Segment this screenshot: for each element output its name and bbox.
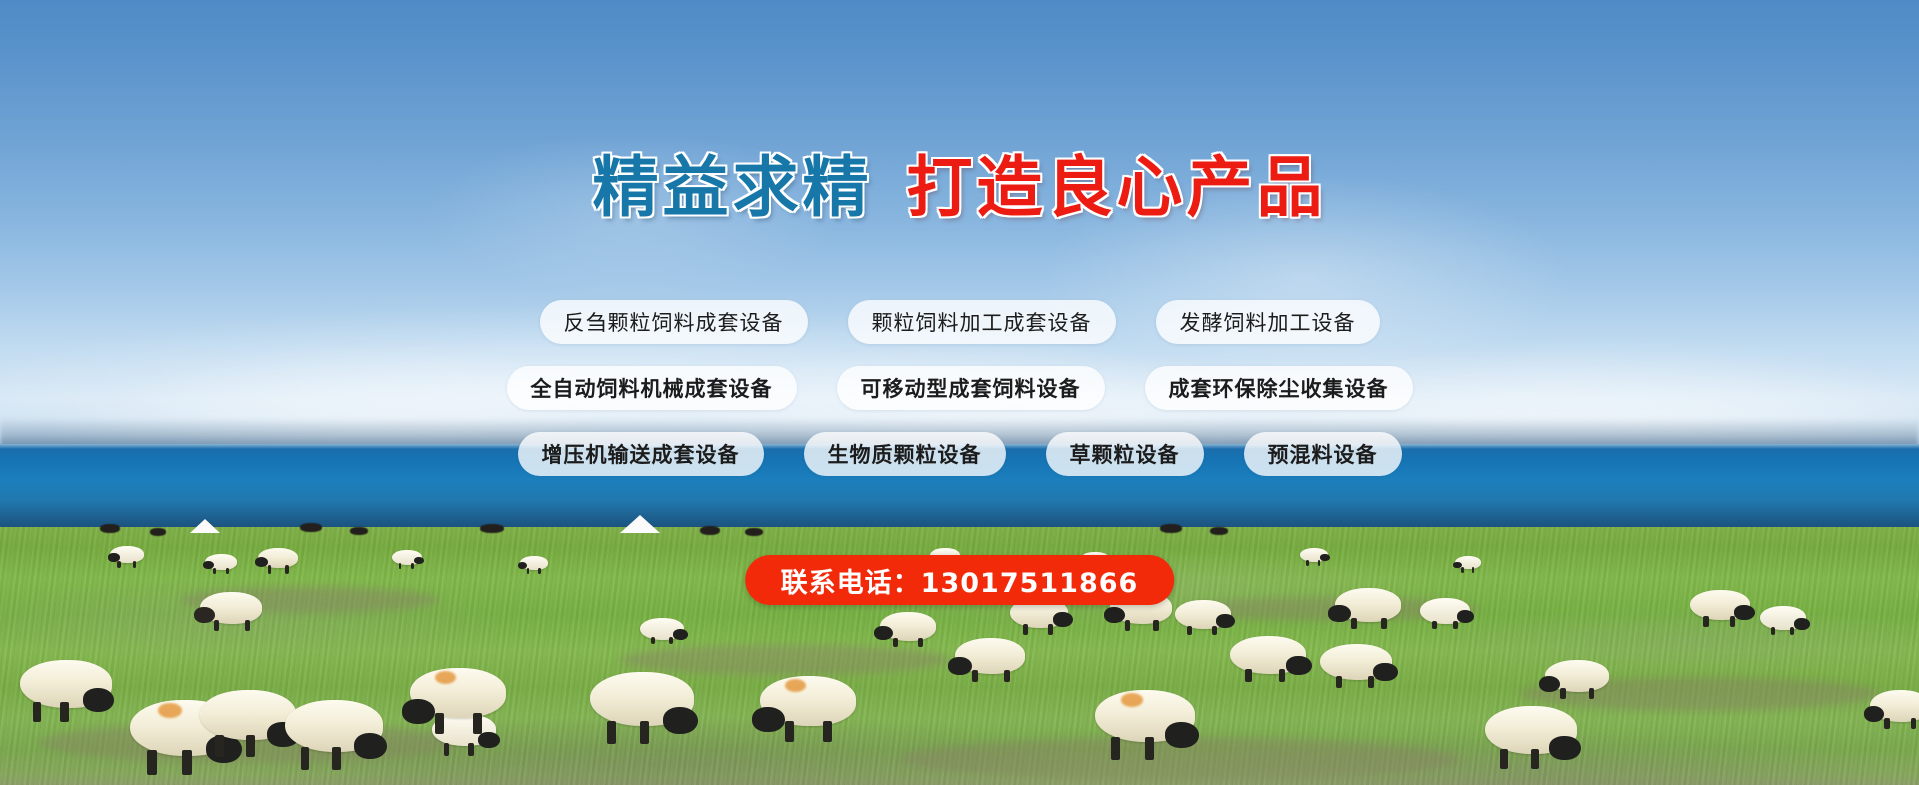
- pill-row-3: 增压机输送成套设备 生物质颗粒设备 草颗粒设备 预混料设备: [0, 432, 1919, 476]
- category-pill-booster-conveying-equipment[interactable]: 增压机输送成套设备: [518, 432, 764, 476]
- category-pill-dust-collection-equipment[interactable]: 成套环保除尘收集设备: [1145, 366, 1413, 410]
- sheep-leg: [785, 721, 794, 742]
- sheep-leg: [1560, 688, 1566, 699]
- category-pill-groups: 反刍颗粒饲料成套设备 颗粒饲料加工成套设备 发酵饲料加工设备 全自动饲料机械成套…: [0, 300, 1919, 498]
- sheep: [392, 550, 422, 565]
- sheep-leg: [1245, 669, 1252, 682]
- sheep-leg: [133, 561, 136, 568]
- headline-part-blue: 精益求精: [593, 149, 873, 226]
- sheep-head: [1864, 706, 1884, 722]
- sheep-leg: [468, 743, 474, 756]
- sheep-leg: [215, 735, 224, 757]
- sheep-leg: [669, 637, 673, 644]
- sheep: [590, 672, 694, 726]
- pill-row-2: 全自动饲料机械成套设备 可移动型成套饲料设备 成套环保除尘收集设备: [0, 366, 1919, 410]
- sheep-leg: [1703, 616, 1708, 626]
- sheep-leg: [1048, 624, 1053, 634]
- sheep-leg: [1461, 567, 1463, 572]
- sheep: [110, 546, 144, 563]
- category-pill-mobile-feed-equipment[interactable]: 可移动型成套饲料设备: [837, 366, 1105, 410]
- sheep-leg: [1771, 627, 1775, 635]
- sheep-leg: [823, 721, 832, 742]
- sheep-leg: [1125, 620, 1131, 631]
- category-pill-pellet-feed-processing[interactable]: 颗粒饲料加工成套设备: [848, 300, 1116, 344]
- sheep-head: [354, 733, 387, 759]
- sheep-head: [1053, 612, 1073, 627]
- sheep: [1545, 660, 1609, 692]
- sheep-head: [194, 607, 215, 623]
- sheep: [1870, 690, 1919, 722]
- sheep: [520, 556, 548, 570]
- sheep-leg: [1212, 626, 1217, 636]
- sheep-leg: [301, 747, 310, 770]
- sheep: [285, 700, 383, 752]
- sheep-leg: [226, 568, 229, 575]
- distant-animal: [1210, 527, 1228, 535]
- sheep-leg: [1589, 688, 1595, 699]
- sheep-leg: [117, 561, 120, 568]
- distant-animal: [700, 526, 720, 535]
- sheep-head: [1165, 722, 1199, 748]
- category-pill-fermented-feed-processing[interactable]: 发酵饲料加工设备: [1156, 300, 1380, 344]
- sheep-leg: [1500, 749, 1508, 769]
- sheep: [200, 592, 262, 624]
- sheep: [1485, 706, 1577, 754]
- sheep-leg: [1531, 749, 1539, 769]
- sheep-head: [1104, 607, 1125, 623]
- sheep-head: [1286, 656, 1312, 675]
- sheep-head: [83, 688, 114, 712]
- category-pill-ruminant-pellet-feed[interactable]: 反刍颗粒饲料成套设备: [540, 300, 808, 344]
- sheep-head: [1328, 605, 1350, 622]
- sheep-leg: [1004, 670, 1010, 682]
- sheep-leg: [1432, 621, 1437, 629]
- sheep-leg: [640, 721, 649, 745]
- sheep-leg: [411, 563, 414, 569]
- sheep-head: [478, 732, 500, 748]
- sheep-head: [402, 699, 435, 724]
- distant-animal: [745, 528, 763, 536]
- sheep: [1335, 588, 1401, 622]
- sheep-leg: [60, 702, 68, 722]
- sheep: [1420, 598, 1470, 624]
- category-pill-automatic-feed-machinery[interactable]: 全自动饲料机械成套设备: [507, 366, 797, 410]
- sheep-leg: [473, 713, 482, 734]
- sheep: [880, 612, 936, 641]
- sheep-leg: [1306, 560, 1309, 566]
- sheep-leg: [245, 620, 251, 631]
- sheep-leg: [1336, 676, 1342, 688]
- sheep: [410, 668, 506, 718]
- sheep-leg: [147, 750, 157, 775]
- sheep-head: [673, 629, 688, 640]
- sheep: [205, 554, 237, 570]
- sheep-leg: [1381, 618, 1387, 630]
- sheep-leg: [444, 743, 450, 756]
- sheep-leg: [182, 750, 192, 775]
- sheep: [1300, 548, 1328, 562]
- sheep: [1690, 590, 1750, 620]
- sheep-leg: [399, 563, 402, 569]
- sheep-leg: [1790, 627, 1794, 635]
- sheep: [1175, 600, 1231, 629]
- sheep-leg: [1351, 618, 1357, 630]
- sheep-leg: [435, 713, 444, 734]
- sheep-leg: [607, 721, 616, 745]
- sheep-leg: [1453, 621, 1458, 629]
- promo-banner: 精益求精打造良心产品 反刍颗粒饲料成套设备 颗粒饲料加工成套设备 发酵饲料加工设…: [0, 0, 1919, 785]
- sheep-leg: [918, 638, 923, 648]
- sheep: [1455, 556, 1481, 569]
- sheep: [760, 676, 856, 726]
- sheep-head: [1734, 605, 1754, 620]
- sheep-leg: [246, 735, 255, 757]
- distant-animal: [1160, 524, 1182, 533]
- sheep-leg: [33, 702, 41, 722]
- sheep-leg: [1145, 737, 1154, 760]
- dirt-patch: [620, 645, 950, 675]
- distant-animal: [150, 528, 166, 536]
- sheep-head: [1539, 676, 1561, 692]
- sheep: [1760, 606, 1806, 630]
- sheep-leg: [1023, 624, 1028, 634]
- sheep-leg: [1153, 620, 1159, 631]
- sheep: [1230, 636, 1306, 674]
- sheep-leg: [1368, 676, 1374, 688]
- sheep-leg: [213, 568, 216, 575]
- sheep-leg: [893, 638, 898, 648]
- sheep-head: [663, 707, 698, 734]
- sheep: [258, 548, 298, 568]
- sheep-head: [1549, 736, 1580, 760]
- sheep: [200, 690, 296, 740]
- sheep-head: [1794, 618, 1810, 630]
- sheep-leg: [1111, 737, 1120, 760]
- category-pill-biomass-pellet-equipment[interactable]: 生物质颗粒设备: [804, 432, 1006, 476]
- sheep: [955, 638, 1025, 674]
- sheep-leg: [651, 637, 655, 644]
- sheep-leg: [1187, 626, 1192, 636]
- sheep-leg: [1279, 669, 1286, 682]
- sheep-leg: [214, 620, 220, 631]
- pill-row-1: 反刍颗粒饲料成套设备 颗粒饲料加工成套设备 发酵饲料加工设备: [0, 300, 1919, 344]
- sheep-head: [1373, 663, 1397, 681]
- sheep: [1095, 690, 1195, 742]
- sheep-leg: [332, 747, 341, 770]
- sheep-leg: [1730, 616, 1735, 626]
- sheep-leg: [972, 670, 978, 682]
- sheep-leg: [1911, 718, 1916, 729]
- contact-phone-banner[interactable]: 联系电话：13017511866: [745, 555, 1175, 605]
- category-pill-grass-pellet-equipment[interactable]: 草颗粒设备: [1046, 432, 1204, 476]
- sheep-leg: [538, 568, 541, 574]
- sheep-leg: [1884, 718, 1889, 729]
- sheep-head: [752, 707, 785, 732]
- sheep-leg: [527, 568, 530, 574]
- category-pill-premix-equipment[interactable]: 预混料设备: [1244, 432, 1402, 476]
- distant-animal: [350, 527, 368, 535]
- sheep-head: [948, 657, 972, 675]
- sheep: [20, 660, 112, 708]
- distant-animal: [300, 523, 322, 532]
- distant-animal: [100, 524, 120, 533]
- sheep: [640, 618, 684, 640]
- headline-part-red: 打造良心产品: [907, 149, 1327, 226]
- sheep-leg: [285, 565, 289, 573]
- headline: 精益求精打造良心产品: [0, 155, 1919, 221]
- sheep: [1320, 644, 1392, 680]
- sheep-leg: [268, 565, 272, 573]
- distant-animal: [480, 524, 504, 533]
